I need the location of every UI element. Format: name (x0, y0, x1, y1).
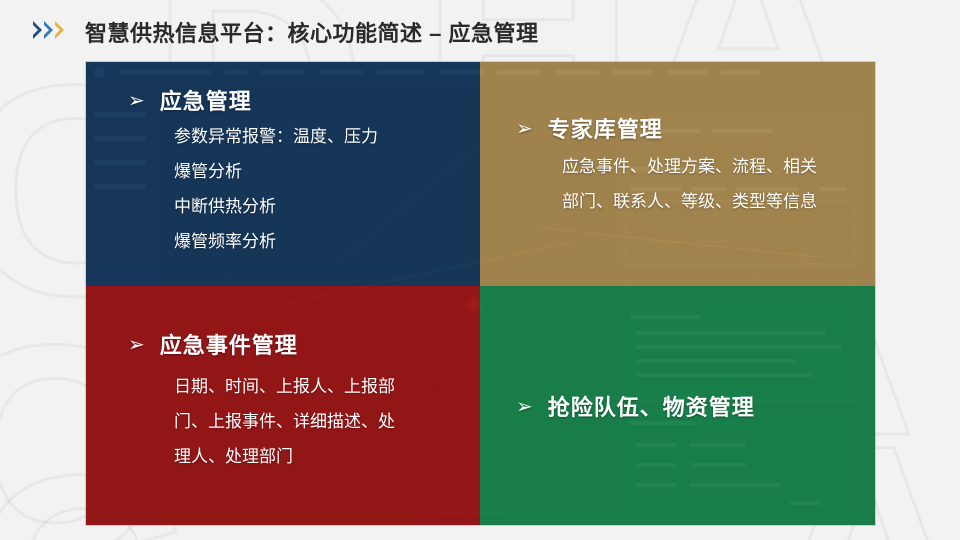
quadrant-title-row: ➢ 专家库管理 (516, 112, 663, 144)
quadrant-line: 部门、联系人、等级、类型等信息 (562, 185, 817, 220)
quadrant-title-row: ➢ 应急管理 (128, 84, 252, 116)
quadrant-emergency-management: ➢ 应急管理 参数异常报警：温度、压力 爆管分析 中断供热分析 爆管频率分析 (86, 62, 480, 286)
quadrant-title: 专家库管理 (548, 112, 663, 144)
chevron-right-icon-1 (33, 21, 42, 39)
arrow-bullet-icon: ➢ (516, 396, 534, 416)
chevron-right-icon-3 (55, 21, 64, 39)
quadrant-line: 门、上报事件、详细描述、处 (174, 405, 436, 440)
quadrant-title: 应急事件管理 (160, 328, 298, 360)
page-title: 智慧供热信息平台：核心功能简述 – 应急管理 (85, 16, 538, 48)
arrow-bullet-icon: ➢ (128, 90, 146, 110)
quadrant-title: 应急管理 (160, 84, 252, 116)
chevron-right-icon-2 (44, 21, 53, 39)
quadrant-body: 日期、时间、上报人、上报部 门、上报事件、详细描述、处 理人、处理部门 (174, 370, 436, 475)
screenshot-panel: 2017 供热技术工程技术有限公司 V1.0.0 ➢ 应急管理 参数异常报警：温… (86, 62, 875, 525)
slide-canvas: C D H A C H A A C 智慧供热信息平台：核心功能简述 – 应急管理 (0, 0, 960, 540)
quadrant-line: 爆管分析 (174, 155, 378, 190)
quadrant-expert-library-management: ➢ 专家库管理 应急事件、处理方案、流程、相关 部门、联系人、等级、类型等信息 (480, 62, 875, 286)
quadrant-line: 参数异常报警：温度、压力 (174, 120, 378, 155)
slide-header: 智慧供热信息平台：核心功能简述 – 应急管理 (0, 0, 960, 62)
arrow-bullet-icon: ➢ (516, 118, 534, 138)
chevron-group-icon (33, 21, 64, 39)
arrow-bullet-icon: ➢ (128, 334, 146, 354)
quadrant-body: 参数异常报警：温度、压力 爆管分析 中断供热分析 爆管频率分析 (174, 120, 378, 259)
quadrant-title: 抢险队伍、物资管理 (548, 390, 755, 422)
quadrant-emergency-event-management: ➢ 应急事件管理 日期、时间、上报人、上报部 门、上报事件、详细描述、处 理人、… (86, 286, 480, 525)
quadrant-line: 中断供热分析 (174, 190, 378, 225)
quadrant-line: 日期、时间、上报人、上报部 (174, 370, 436, 405)
quadrant-line: 理人、处理部门 (174, 440, 436, 475)
quadrant-title-row: ➢ 应急事件管理 (128, 328, 298, 360)
quadrant-line: 爆管频率分析 (174, 225, 378, 260)
quadrant-rescue-team-material-management: ➢ 抢险队伍、物资管理 (480, 286, 875, 525)
quadrant-line: 应急事件、处理方案、流程、相关 (562, 150, 817, 185)
quadrant-body: 应急事件、处理方案、流程、相关 部门、联系人、等级、类型等信息 (562, 150, 817, 220)
quadrant-title-row: ➢ 抢险队伍、物资管理 (516, 390, 755, 422)
